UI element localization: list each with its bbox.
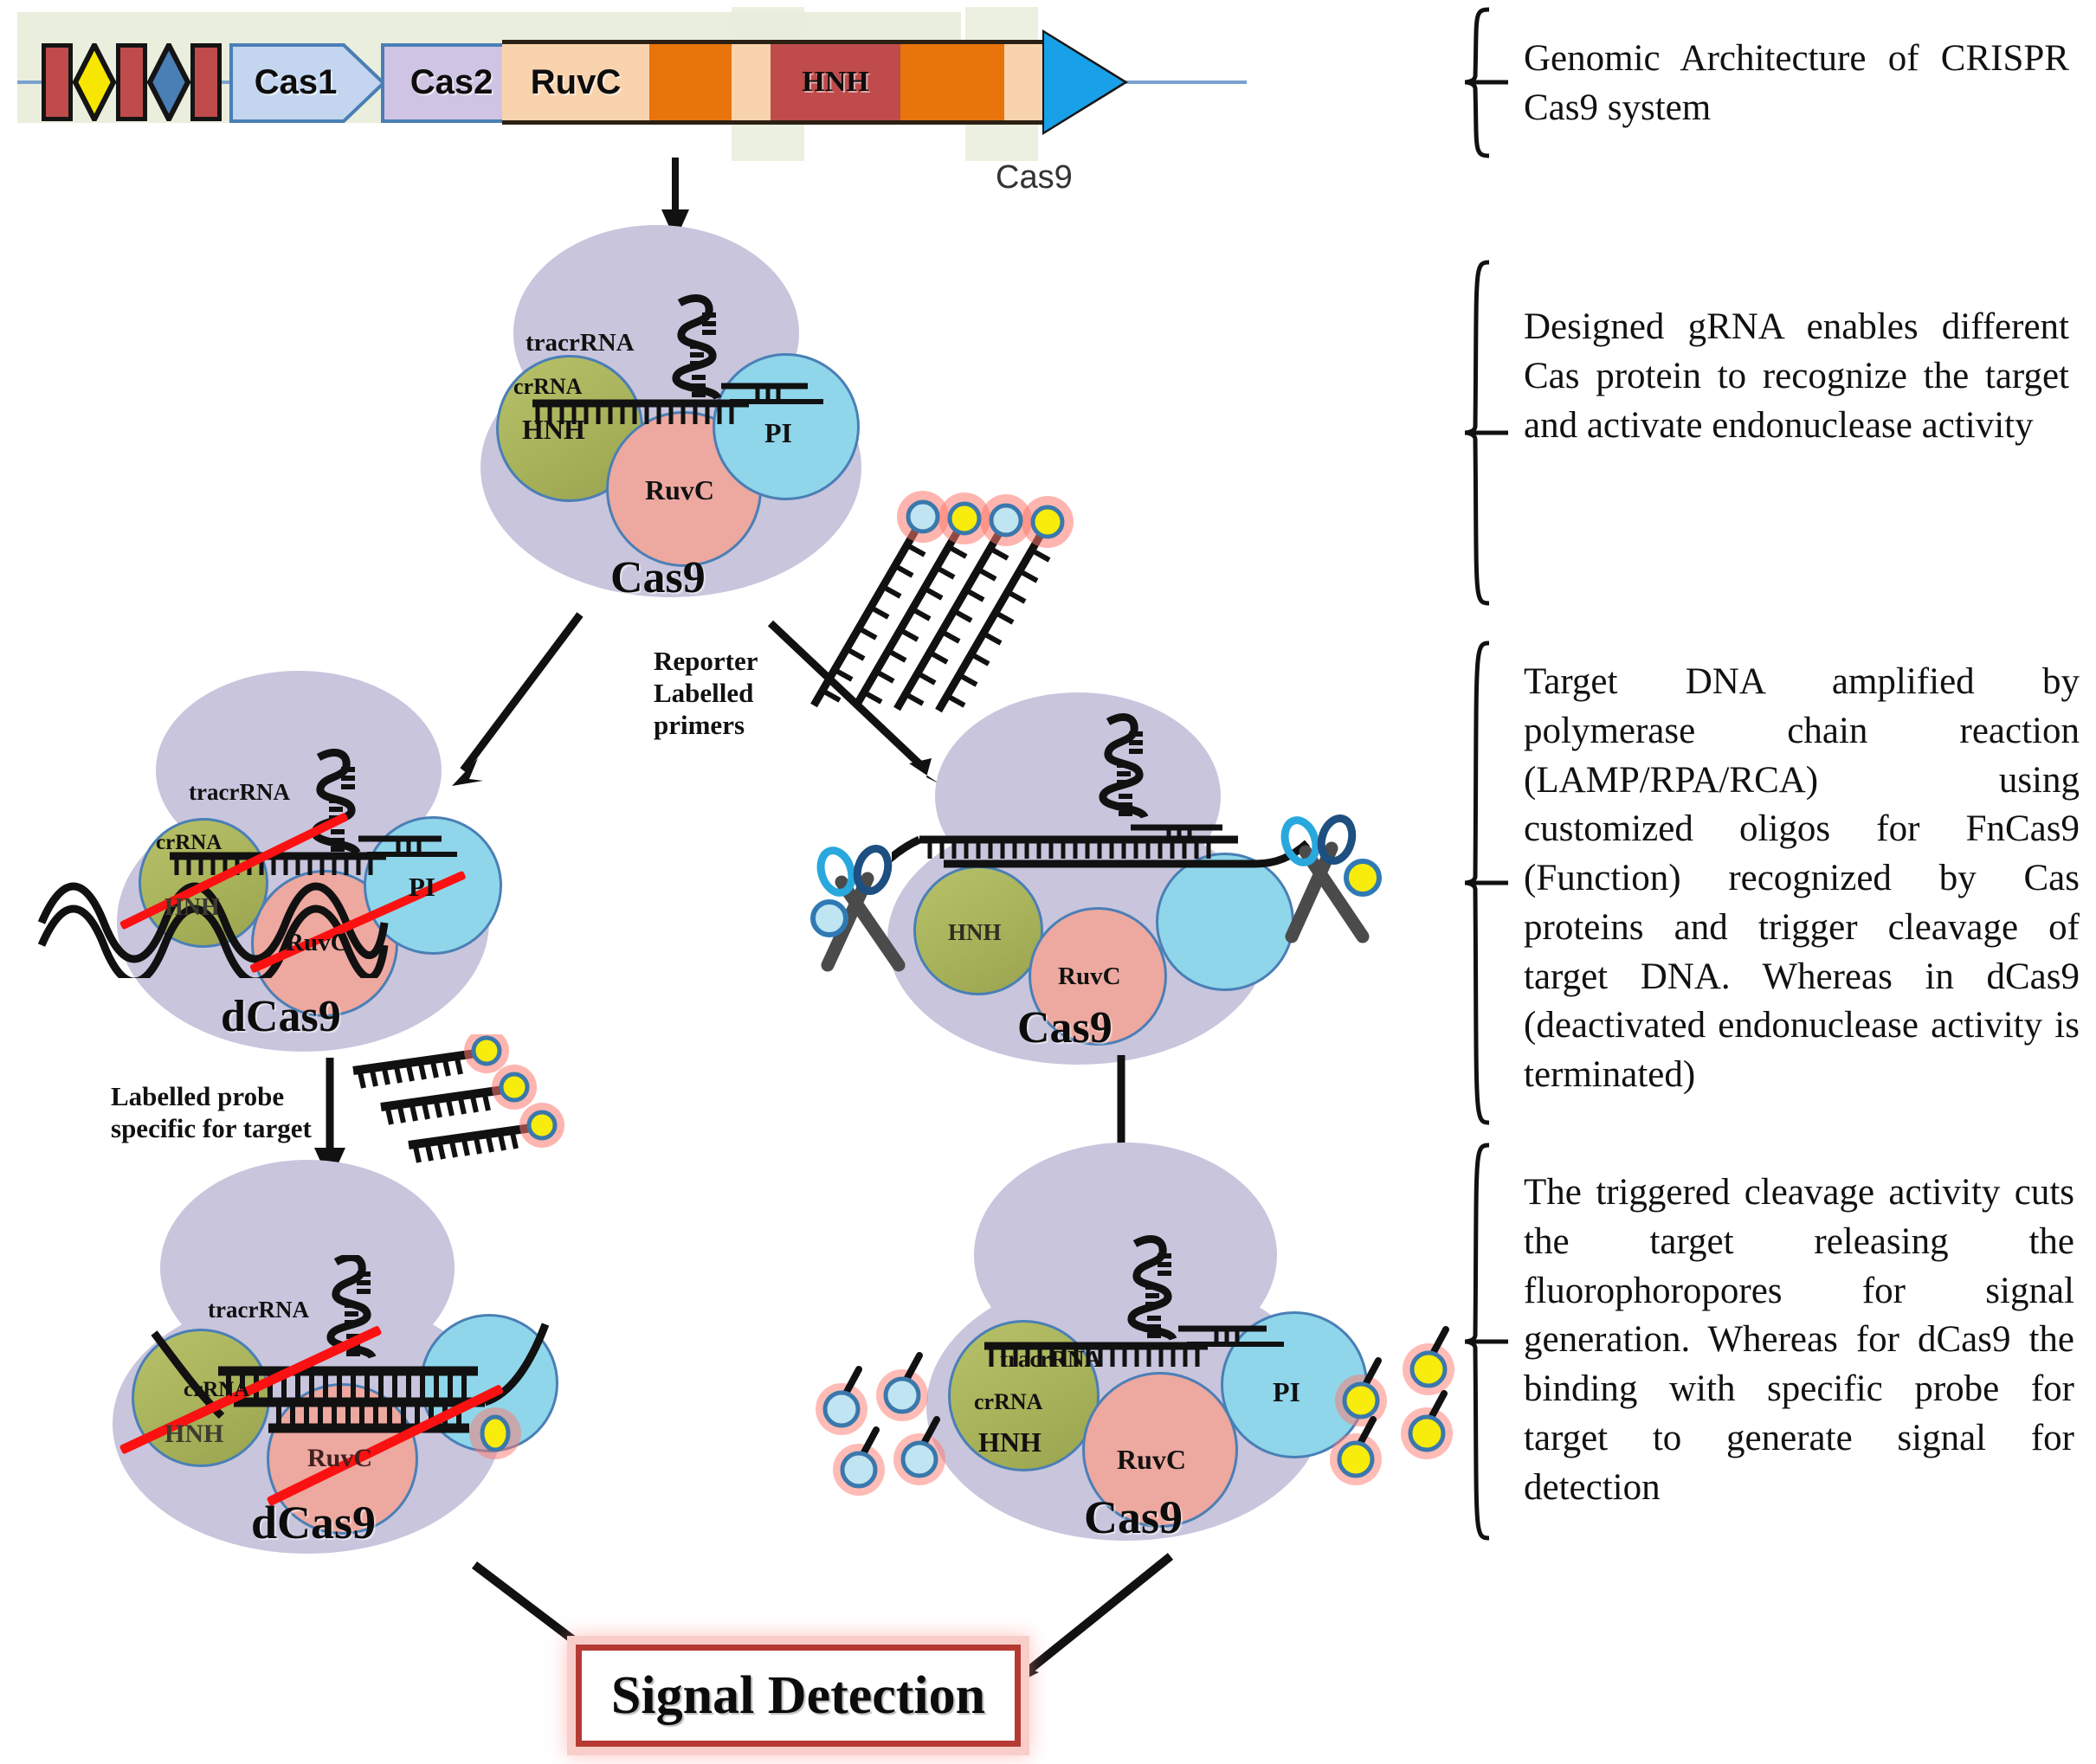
cas9-seg-hnh-label: HNH — [771, 44, 900, 120]
cas9-arrowhead — [1044, 33, 1124, 132]
grna-and-target-duplex — [892, 710, 1325, 917]
label-tracrrna: tracrRNA — [189, 779, 290, 806]
label-hnh: HNH — [948, 919, 1002, 946]
label-tracrrna: tracrRNA — [1000, 1346, 1101, 1373]
label-pi: PI — [409, 872, 435, 903]
gene-cas1-label: Cas1 — [229, 42, 381, 123]
complex-dcas9-bottom-left: tracrRNA crRNA HNH RuvC dCas9 — [113, 1160, 632, 1567]
label-pi: PI — [1273, 1376, 1300, 1408]
complex-name: Cas9 — [1084, 1490, 1183, 1544]
label-ruvc: RuvC — [307, 1444, 372, 1473]
label-crrna: crRNA — [513, 374, 582, 400]
label-hnh: HNH — [978, 1426, 1042, 1458]
released-fluorophores-yellow — [1325, 1316, 1524, 1497]
crispr-repeat-2 — [116, 43, 147, 121]
brace-2 — [1463, 260, 1513, 606]
brace-1 — [1463, 7, 1513, 158]
cas9-seg-linker-2 — [900, 44, 1004, 120]
label-hnh: HNH — [164, 1420, 223, 1449]
label-crrna: crRNA — [974, 1389, 1042, 1415]
complex-name: dCas9 — [251, 1496, 376, 1549]
crispr-repeat-3 — [190, 43, 222, 121]
signal-detection-box[interactable]: Signal Detection — [576, 1645, 1021, 1747]
complex-cas9-mid-right: HNH RuvC Cas9 — [805, 692, 1394, 1065]
label-hnh: HNH — [522, 414, 585, 446]
label-ruvc: RuvC — [286, 929, 349, 957]
brace-3 — [1463, 641, 1513, 1125]
caption-reporter-primers: Reporter Labelled primers — [654, 645, 758, 742]
complex-dcas9-mid-left: tracrRNA crRNA HNH RuvC PI dCas9 — [35, 671, 537, 1069]
diagram-canvas: Cas1 Cas2 RuvC HNH Cas9 Gen — [0, 0, 2096, 1764]
crispr-spacer-blue — [147, 43, 190, 121]
note-genomic-architecture: Genomic Architecture of CRISPR Cas9 syst… — [1524, 35, 2069, 133]
scissors-icon-right — [1273, 814, 1394, 961]
caption-labelled-probe: Labelled probe specific for target — [111, 1080, 312, 1144]
label-ruvc: RuvC — [645, 474, 714, 506]
note-triggered-cleavage: The triggered cleavage activity cuts the… — [1524, 1168, 2074, 1512]
genomic-architecture-track: Cas1 Cas2 RuvC HNH Cas9 — [17, 7, 1247, 163]
crispr-repeat-1 — [42, 43, 73, 121]
signal-detection-label: Signal Detection — [611, 1665, 985, 1727]
bound-fluorophore — [450, 1394, 545, 1471]
label-ruvc: RuvC — [1117, 1444, 1186, 1476]
note-designed-grna: Designed gRNA enables different Cas prot… — [1524, 303, 2069, 450]
label-tracrrna: tracrRNA — [526, 329, 635, 357]
complex-cas9-bottom-right: tracrRNA crRNA HNH RuvC PI Cas9 — [805, 1143, 1463, 1558]
complex-name: Cas9 — [610, 552, 706, 603]
released-fluorophores-cyan — [805, 1342, 1004, 1515]
gene-cas9-bar: RuvC HNH — [502, 40, 1048, 125]
label-crrna: crRNA — [184, 1378, 249, 1402]
scissors-icon-left — [805, 844, 918, 982]
note-target-dna-amplified: Target DNA amplified by polymerase chain… — [1524, 658, 2080, 1100]
cas9-seg-ruvc-label: RuvC — [502, 44, 649, 120]
cas9-gene-caption: Cas9 — [996, 159, 1073, 196]
gene-cas1: Cas1 — [229, 42, 381, 123]
label-tracrrna: tracrRNA — [208, 1297, 309, 1323]
grna-duplex — [948, 1233, 1364, 1415]
cas9-seg-linker-1 — [649, 44, 732, 120]
cas9-seg-pale-1 — [732, 44, 771, 120]
cas9-seg-pale-2 — [1004, 44, 1048, 120]
crispr-spacer-yellow — [73, 43, 116, 121]
label-hnh: HNH — [164, 894, 220, 922]
complex-name: dCas9 — [221, 991, 341, 1042]
label-ruvc: RuvC — [1058, 962, 1121, 991]
complex-name: Cas9 — [1017, 1002, 1112, 1053]
label-pi: PI — [764, 417, 792, 449]
label-crrna: crRNA — [156, 831, 222, 855]
